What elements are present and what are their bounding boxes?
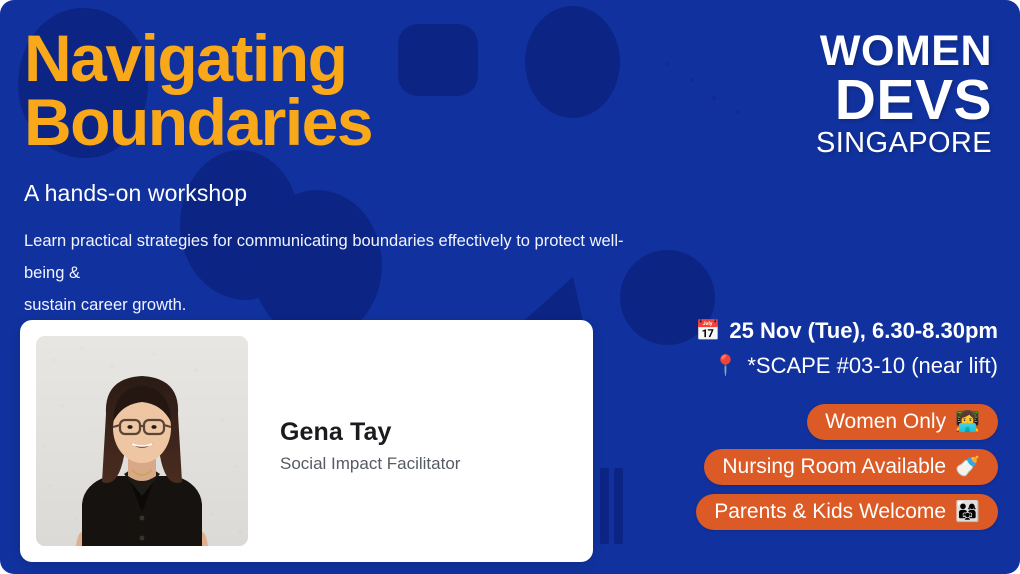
decorative-dot: [712, 96, 716, 100]
decorative-dot: [735, 110, 739, 114]
page-title: Navigating Boundaries: [24, 26, 624, 154]
headline-line-2: Boundaries: [24, 90, 624, 154]
status-badge: Nursing Room Available 🍼: [704, 449, 998, 485]
status-badge: Women Only 👩‍💻: [807, 404, 998, 440]
badge-label: Nursing Room Available: [722, 455, 946, 479]
description-line-2: sustain career growth.: [24, 296, 186, 314]
baby-bottle-icon: 🍼: [955, 457, 980, 477]
event-details: 📅 25 Nov (Tue), 6.30-8.30pm 📍 *SCAPE #03…: [558, 318, 998, 379]
headline-block: Navigating Boundaries A hands-on worksho…: [24, 26, 624, 322]
brand-logo: WOMEN DEVS SINGAPORE: [816, 30, 992, 159]
event-venue-line: 📍 *SCAPE #03-10 (near lift): [558, 353, 998, 379]
event-date-line: 📅 25 Nov (Tue), 6.30-8.30pm: [558, 318, 998, 344]
event-venue-text: *SCAPE #03-10 (near lift): [747, 353, 998, 379]
badge-list: Women Only 👩‍💻 Nursing Room Available 🍼 …: [538, 404, 998, 530]
speaker-card: Gena Tay Social Impact Facilitator: [20, 320, 593, 562]
decorative-dot: [665, 62, 669, 66]
logo-word-women: WOMEN: [816, 30, 992, 73]
speaker-info: Gena Tay Social Impact Facilitator: [280, 336, 460, 474]
headline-line-1: Navigating: [24, 26, 624, 90]
badge-label: Women Only: [825, 410, 946, 434]
woman-technologist-icon: 👩‍💻: [955, 412, 980, 432]
location-pin-icon: 📍: [713, 356, 738, 376]
speaker-role: Social Impact Facilitator: [280, 454, 460, 474]
event-date-text: 25 Nov (Tue), 6.30-8.30pm: [729, 318, 998, 344]
description-line-1: Learn practical strategies for communica…: [24, 232, 624, 282]
subtitle: A hands-on workshop: [24, 180, 624, 207]
logo-word-singapore: SINGAPORE: [816, 128, 992, 158]
family-icon: 👨‍👩‍👧: [955, 502, 980, 522]
speaker-name: Gena Tay: [280, 418, 460, 447]
description: Learn practical strategies for communica…: [24, 225, 624, 322]
event-banner: Navigating Boundaries A hands-on worksho…: [0, 0, 1020, 574]
speaker-photo: [36, 336, 248, 546]
status-badge: Parents & Kids Welcome 👨‍👩‍👧: [696, 494, 998, 530]
decorative-dot: [690, 78, 694, 82]
badge-label: Parents & Kids Welcome: [714, 500, 946, 524]
calendar-icon: 📅: [696, 321, 721, 341]
logo-word-devs: DEVS: [816, 71, 992, 129]
